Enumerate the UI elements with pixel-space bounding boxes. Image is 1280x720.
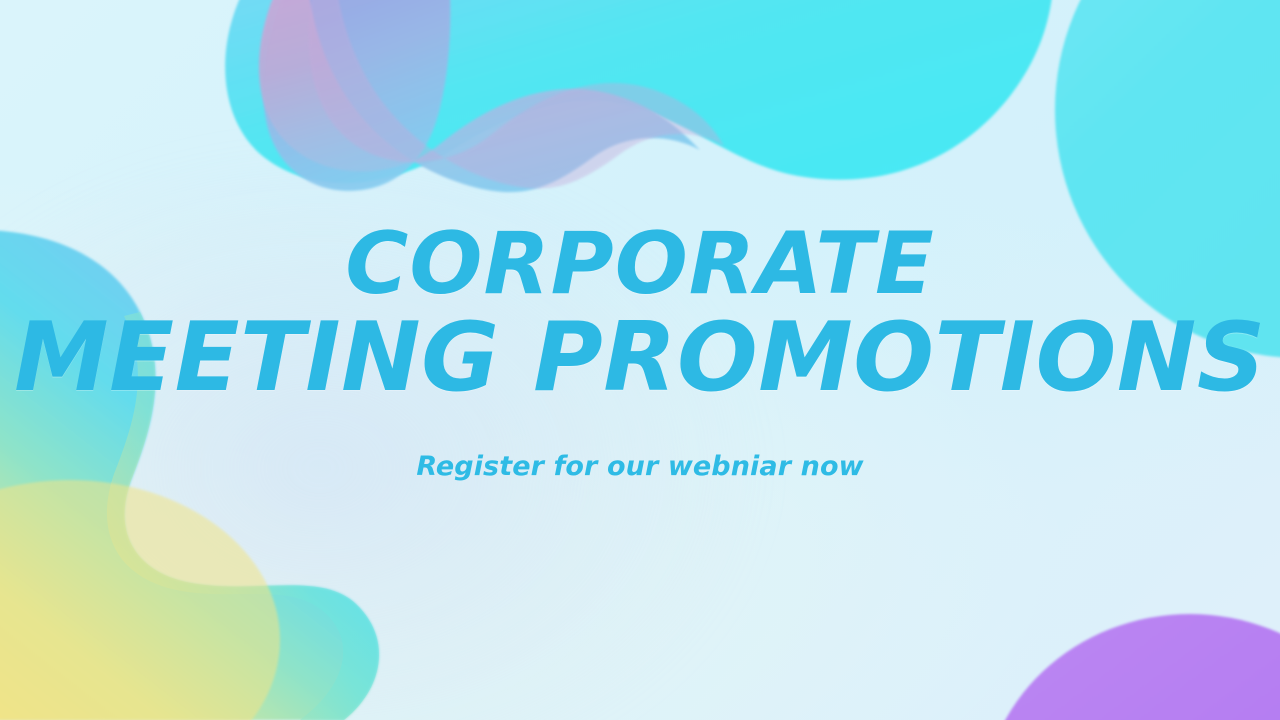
poster-content: CORPORATE MEETING PROMOTIONS Register fo… bbox=[0, 0, 1280, 720]
headline-line-1: CORPORATE bbox=[14, 222, 1266, 306]
page-title: CORPORATE MEETING PROMOTIONS bbox=[14, 222, 1266, 405]
promotional-poster: CORPORATE MEETING PROMOTIONS Register fo… bbox=[0, 0, 1280, 720]
subtitle-call-to-action: Register for our webniar now bbox=[416, 451, 863, 482]
headline-line-2: MEETING PROMOTIONS bbox=[14, 312, 1266, 405]
